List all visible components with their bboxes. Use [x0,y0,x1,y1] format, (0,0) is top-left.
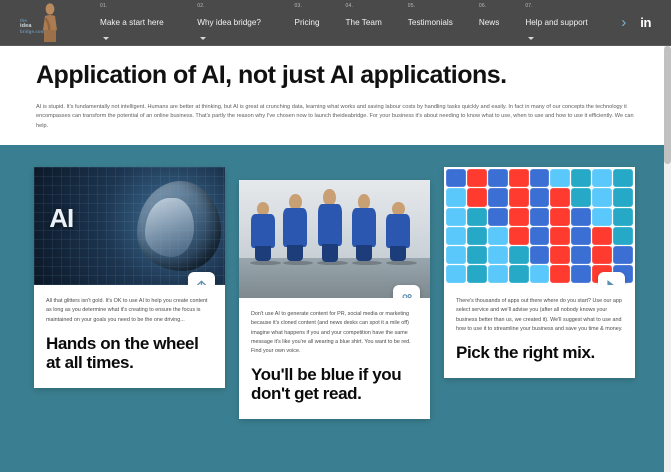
nav-label: The Team [346,18,382,27]
chevron-down-icon[interactable] [528,37,534,40]
app-icon [509,227,529,245]
nav-label: Pricing [295,18,320,27]
nav-label: Help and support [525,18,587,27]
app-icon [509,208,529,226]
ai-robot-head-image: AI [34,167,225,285]
app-icon [467,208,487,226]
up-arrow-icon[interactable] [188,272,215,285]
nav-item-news[interactable]: 06. News [479,3,499,30]
app-icon [530,246,550,264]
app-icon [571,208,591,226]
card-youll-be-blue[interactable]: Don't use AI to generate content for PR,… [239,180,430,419]
nav-number: 03. [295,3,320,9]
nav-label: News [479,18,499,27]
page-title: Application of AI, not just AI applicati… [36,62,635,90]
app-icon [509,246,529,264]
app-icon [530,188,550,206]
logo-wordmark: the idea bridge.com [20,18,45,35]
hero-paragraph: AI is stupid. It's fundamentally not int… [36,103,635,132]
app-icon [446,265,466,283]
app-icon [446,169,466,187]
logo-line-2: idea [20,23,32,29]
card-body: Don't use AI to generate content for PR,… [239,298,430,419]
site-header: the idea bridge.com 01. Make a start her… [0,0,671,46]
app-icon [467,246,487,264]
page-scrollbar-track[interactable] [664,46,671,472]
nav-label: Testimonials [408,18,453,27]
page-root: the idea bridge.com 01. Make a start her… [0,0,671,472]
card-title: Hands on the wheel at all times. [46,334,213,372]
app-icon [509,265,529,283]
nav-number: 01. [100,3,171,9]
blue-team-figures-image [239,180,430,298]
app-icon [550,188,570,206]
card-hands-on-the-wheel[interactable]: AI All that glitters isn't gold. It's OK… [34,167,225,388]
app-icons-grid-image [444,167,635,285]
chevron-down-icon[interactable] [103,37,109,40]
card-body: All that glitters isn't gold. It's OK to… [34,285,225,388]
nav-item-make-a-start-here[interactable]: 01. Make a start here [100,3,171,48]
card-title: Pick the right mix. [456,343,623,362]
card-description: There's thousands of apps out there wher… [456,297,623,334]
nav-number: 06. [479,3,499,9]
app-icon [446,246,466,264]
nav-label: Make a start here [100,18,164,27]
nav-number: 02. [197,3,268,9]
linkedin-icon[interactable]: in [640,16,651,29]
app-icon [488,188,508,206]
app-icon [488,169,508,187]
app-icon [530,227,550,245]
app-icon [550,169,570,187]
cards-band: AI All that glitters isn't gold. It's OK… [0,145,671,472]
nav-item-why-idea-bridge[interactable]: 02. Why idea bridge? [197,3,268,48]
nav-number: 04. [346,3,382,9]
main-navigation: 01. Make a start here 02. Why idea bridg… [76,0,621,48]
card-description: Don't use AI to generate content for PR,… [251,310,418,356]
nav-number: 07. [525,3,595,9]
app-icon [446,188,466,206]
page-scrollbar-thumb[interactable] [664,46,671,164]
nav-item-the-team[interactable]: 04. The Team [346,3,382,30]
cards-container: AI All that glitters isn't gold. It's OK… [34,167,637,419]
app-icon [550,227,570,245]
app-icon [592,246,612,264]
card-body: There's thousands of apps out there wher… [444,285,635,378]
card-image: AI [34,167,225,285]
card-title: You'll be blue if you don't get read. [251,365,418,403]
app-icon [571,169,591,187]
app-icon [571,227,591,245]
app-icon [488,208,508,226]
app-icon [530,169,550,187]
app-icon [613,208,633,226]
app-icon [592,169,612,187]
people-icon[interactable] [393,285,420,298]
app-icon [571,188,591,206]
nav-item-help-and-support[interactable]: 07. Help and support [525,3,595,48]
cursor-pointer-icon[interactable] [598,272,625,285]
header-actions: › in [621,15,657,30]
chevron-down-icon[interactable] [200,37,206,40]
nav-item-testimonials[interactable]: 05. Testimonials [408,3,453,30]
app-icon [592,208,612,226]
hero-section: Application of AI, not just AI applicati… [0,46,671,145]
app-icon [446,208,466,226]
app-icon [592,227,612,245]
card-pick-the-right-mix[interactable]: There's thousands of apps out there wher… [444,167,635,378]
app-icon [488,227,508,245]
app-icon [509,188,529,206]
card-image [444,167,635,285]
app-icon [550,246,570,264]
app-icon [550,265,570,283]
image-overlay-text: AI [49,203,73,234]
nav-item-pricing[interactable]: 03. Pricing [295,3,320,30]
app-icon [509,169,529,187]
app-icon [467,265,487,283]
app-icon [530,265,550,283]
logo-line-3: bridge.com [20,29,45,34]
app-icon [488,265,508,283]
app-icon [530,208,550,226]
app-icon [467,227,487,245]
app-icon [613,227,633,245]
app-icon [613,188,633,206]
app-icon [613,246,633,264]
app-icon [613,169,633,187]
app-icon [467,188,487,206]
card-description: All that glitters isn't gold. It's OK to… [46,297,213,325]
app-icon [467,169,487,187]
app-icon [592,188,612,206]
app-icon [488,246,508,264]
app-icon [571,246,591,264]
nav-number: 05. [408,3,453,9]
app-icon [571,265,591,283]
nav-label: Why idea bridge? [197,18,261,27]
app-icon [550,208,570,226]
app-icon [446,227,466,245]
site-logo[interactable]: the idea bridge.com [18,0,76,46]
card-image [239,180,430,298]
chevron-right-icon[interactable]: › [621,15,626,30]
